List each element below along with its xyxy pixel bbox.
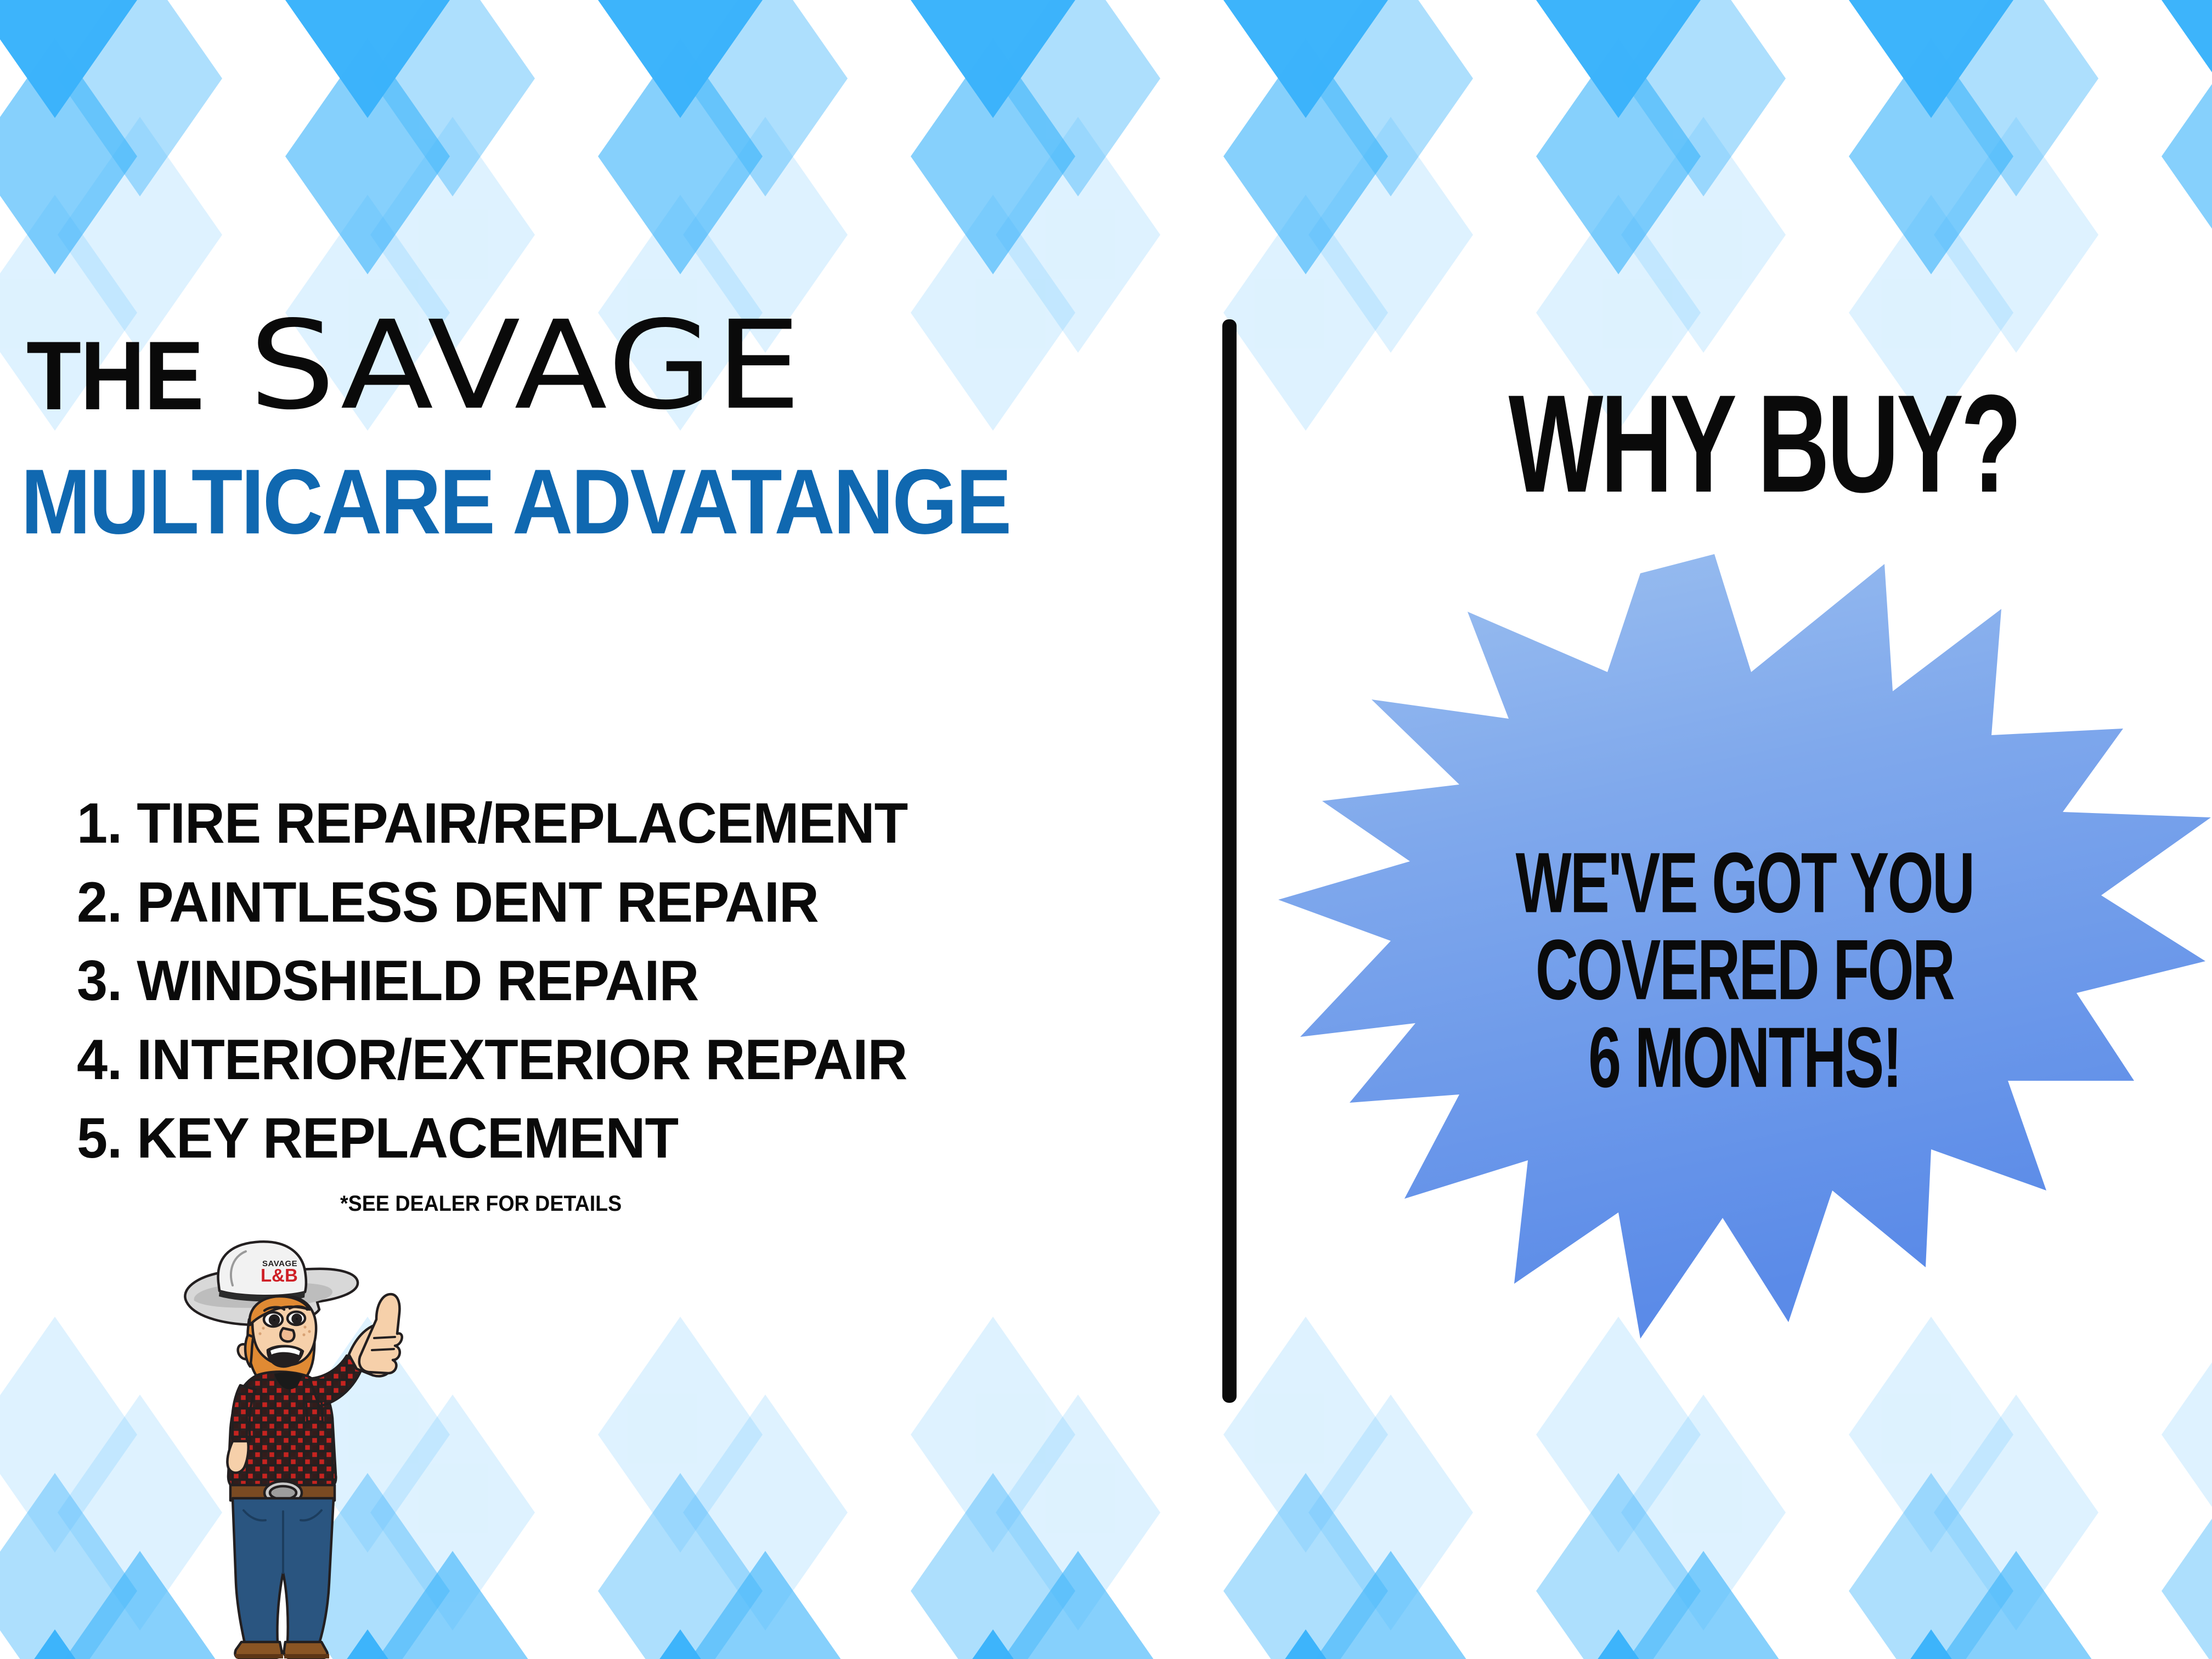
diamond-shape (1621, 1395, 1786, 1630)
diamond-shape (1621, 117, 1786, 353)
diamond-shape (1934, 1395, 2098, 1630)
diamond-shape (1223, 38, 1388, 274)
subheadline: MULTICARE ADVATANGE (21, 455, 1010, 548)
benefits-list: 1. TIRE REPAIR/REPLACEMENT 2. PAINTLESS … (77, 785, 933, 1178)
diamond-shape (1223, 1629, 1388, 1659)
diamond-shape (1223, 195, 1388, 431)
diamond-shape (1621, 1551, 1786, 1659)
brand-wordmark-savage: SAVAGE (249, 316, 804, 416)
plaid-shirt (228, 1356, 364, 1489)
why-buy-heading: WHY BUY? (1438, 379, 2090, 511)
vertical-divider (1222, 319, 1237, 1403)
disclaimer-text: *SEE DEALER FOR DETAILS (340, 1192, 622, 1216)
headline-prefix: THE (26, 336, 203, 416)
diamond-shape (2162, 1473, 2212, 1659)
list-item: 3. WINDSHIELD REPAIR (77, 942, 907, 1021)
diamond-shape (1223, 0, 1388, 118)
headline: THE SAVAGE (26, 321, 719, 416)
jeans (233, 1498, 334, 1643)
diamond-shape (1849, 1629, 2013, 1659)
diamond-shape (1308, 1551, 1473, 1659)
diamond-shape (2162, 0, 2212, 118)
diamond-shape (1536, 38, 1701, 274)
list-item: 5. KEY REPLACEMENT (77, 1099, 907, 1178)
diamond-shape (1934, 117, 2098, 353)
starburst-text: WE'VE GOT YOU COVERED FOR 6 MONTHS! (1325, 839, 2164, 1101)
diamond-shape (1308, 117, 1473, 353)
starburst-line: 6 MONTHS! (1325, 1014, 2164, 1101)
diamond-shape (1308, 0, 1473, 196)
diamond-shape (1849, 38, 2013, 274)
diamond-shape (1223, 1473, 1388, 1659)
diamond-shape (1934, 0, 2098, 196)
diamond-shape (1308, 1395, 1473, 1630)
mascot-cowboy-illustration: SAVAGE L&B (176, 1237, 406, 1659)
diamond-shape (1536, 0, 1701, 118)
eye-left (264, 1312, 283, 1327)
diamond-shape (1536, 1473, 1701, 1659)
starburst-badge: WE'VE GOT YOU COVERED FOR 6 MONTHS! (1278, 554, 2211, 1388)
boots (235, 1642, 329, 1658)
list-item: 1. TIRE REPAIR/REPLACEMENT (77, 785, 907, 864)
eye-right (287, 1312, 305, 1325)
diamond-shape (1849, 1473, 2013, 1659)
diamond-shape (2162, 1629, 2212, 1659)
diamond-shape (1849, 0, 2013, 118)
starburst-line: COVERED FOR (1325, 927, 2164, 1014)
poster-canvas: THE SAVAGE MULTICARE ADVATANGE 1. TIRE R… (0, 0, 2212, 1659)
starburst-line: WE'VE GOT YOU (1325, 839, 2164, 927)
diamond-shape (1621, 0, 1786, 196)
diamond-shape (2162, 38, 2212, 274)
list-item: 2. PAINTLESS DENT REPAIR (77, 864, 907, 943)
list-item: 4. INTERIOR/EXTERIOR REPAIR (77, 1021, 907, 1100)
diamond-shape (1934, 1551, 2098, 1659)
hat-logo-main: L&B (261, 1265, 298, 1285)
diamond-shape (1536, 1629, 1701, 1659)
